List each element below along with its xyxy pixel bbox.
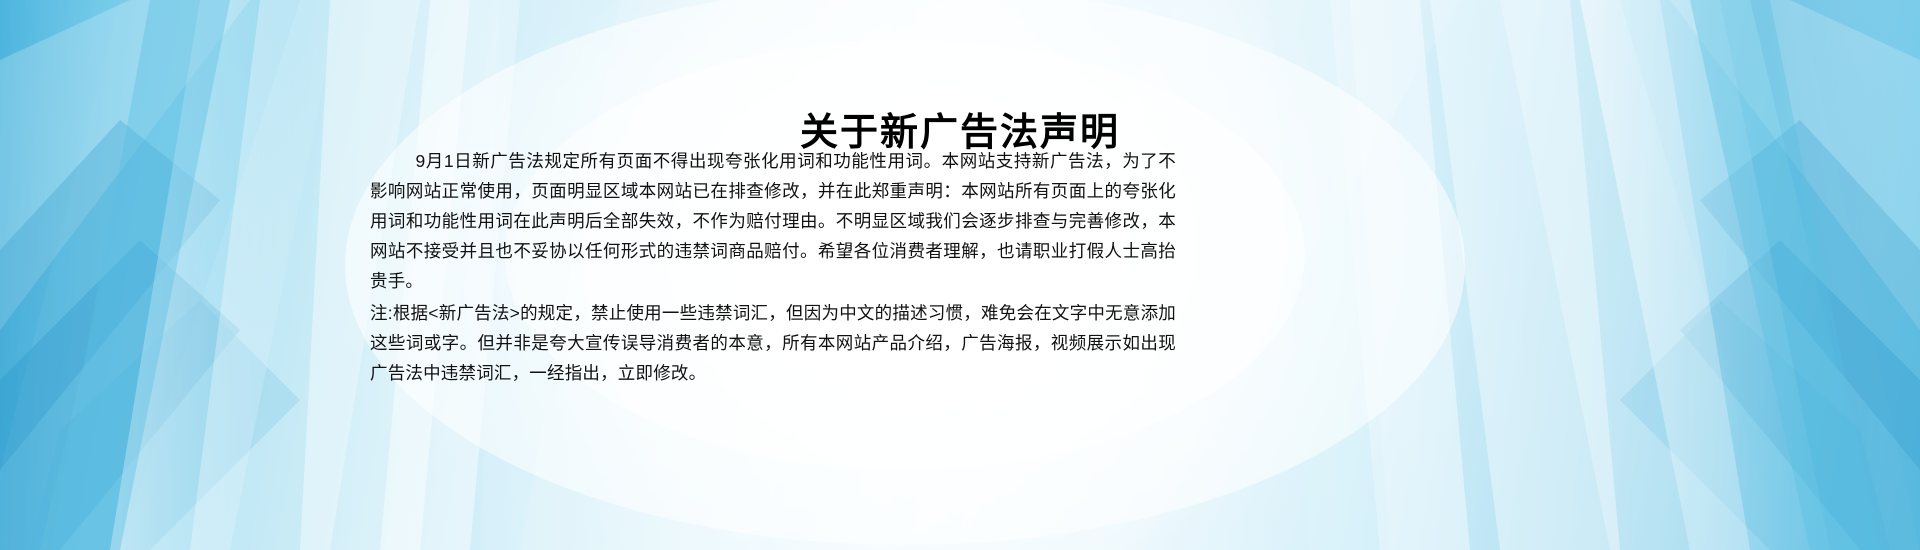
statement-content: 关于新广告法声明 9月1日新广告法规定所有页面不得出现夸张化用词和功能性用词。本… [0, 0, 1920, 550]
statement-text-block: 9月1日新广告法规定所有页面不得出现夸张化用词和功能性用词。本网站支持新广告法，… [370, 146, 1176, 388]
statement-paragraph-body: 9月1日新广告法规定所有页面不得出现夸张化用词和功能性用词。本网站支持新广告法，… [370, 146, 1176, 296]
statement-paragraph-note: 注:根据<新广告法>的规定，禁止使用一些违禁词汇，但因为中文的描述习惯，难免会在… [370, 298, 1176, 388]
advertising-law-statement-banner: 关于新广告法声明 9月1日新广告法规定所有页面不得出现夸张化用词和功能性用词。本… [0, 0, 1920, 550]
